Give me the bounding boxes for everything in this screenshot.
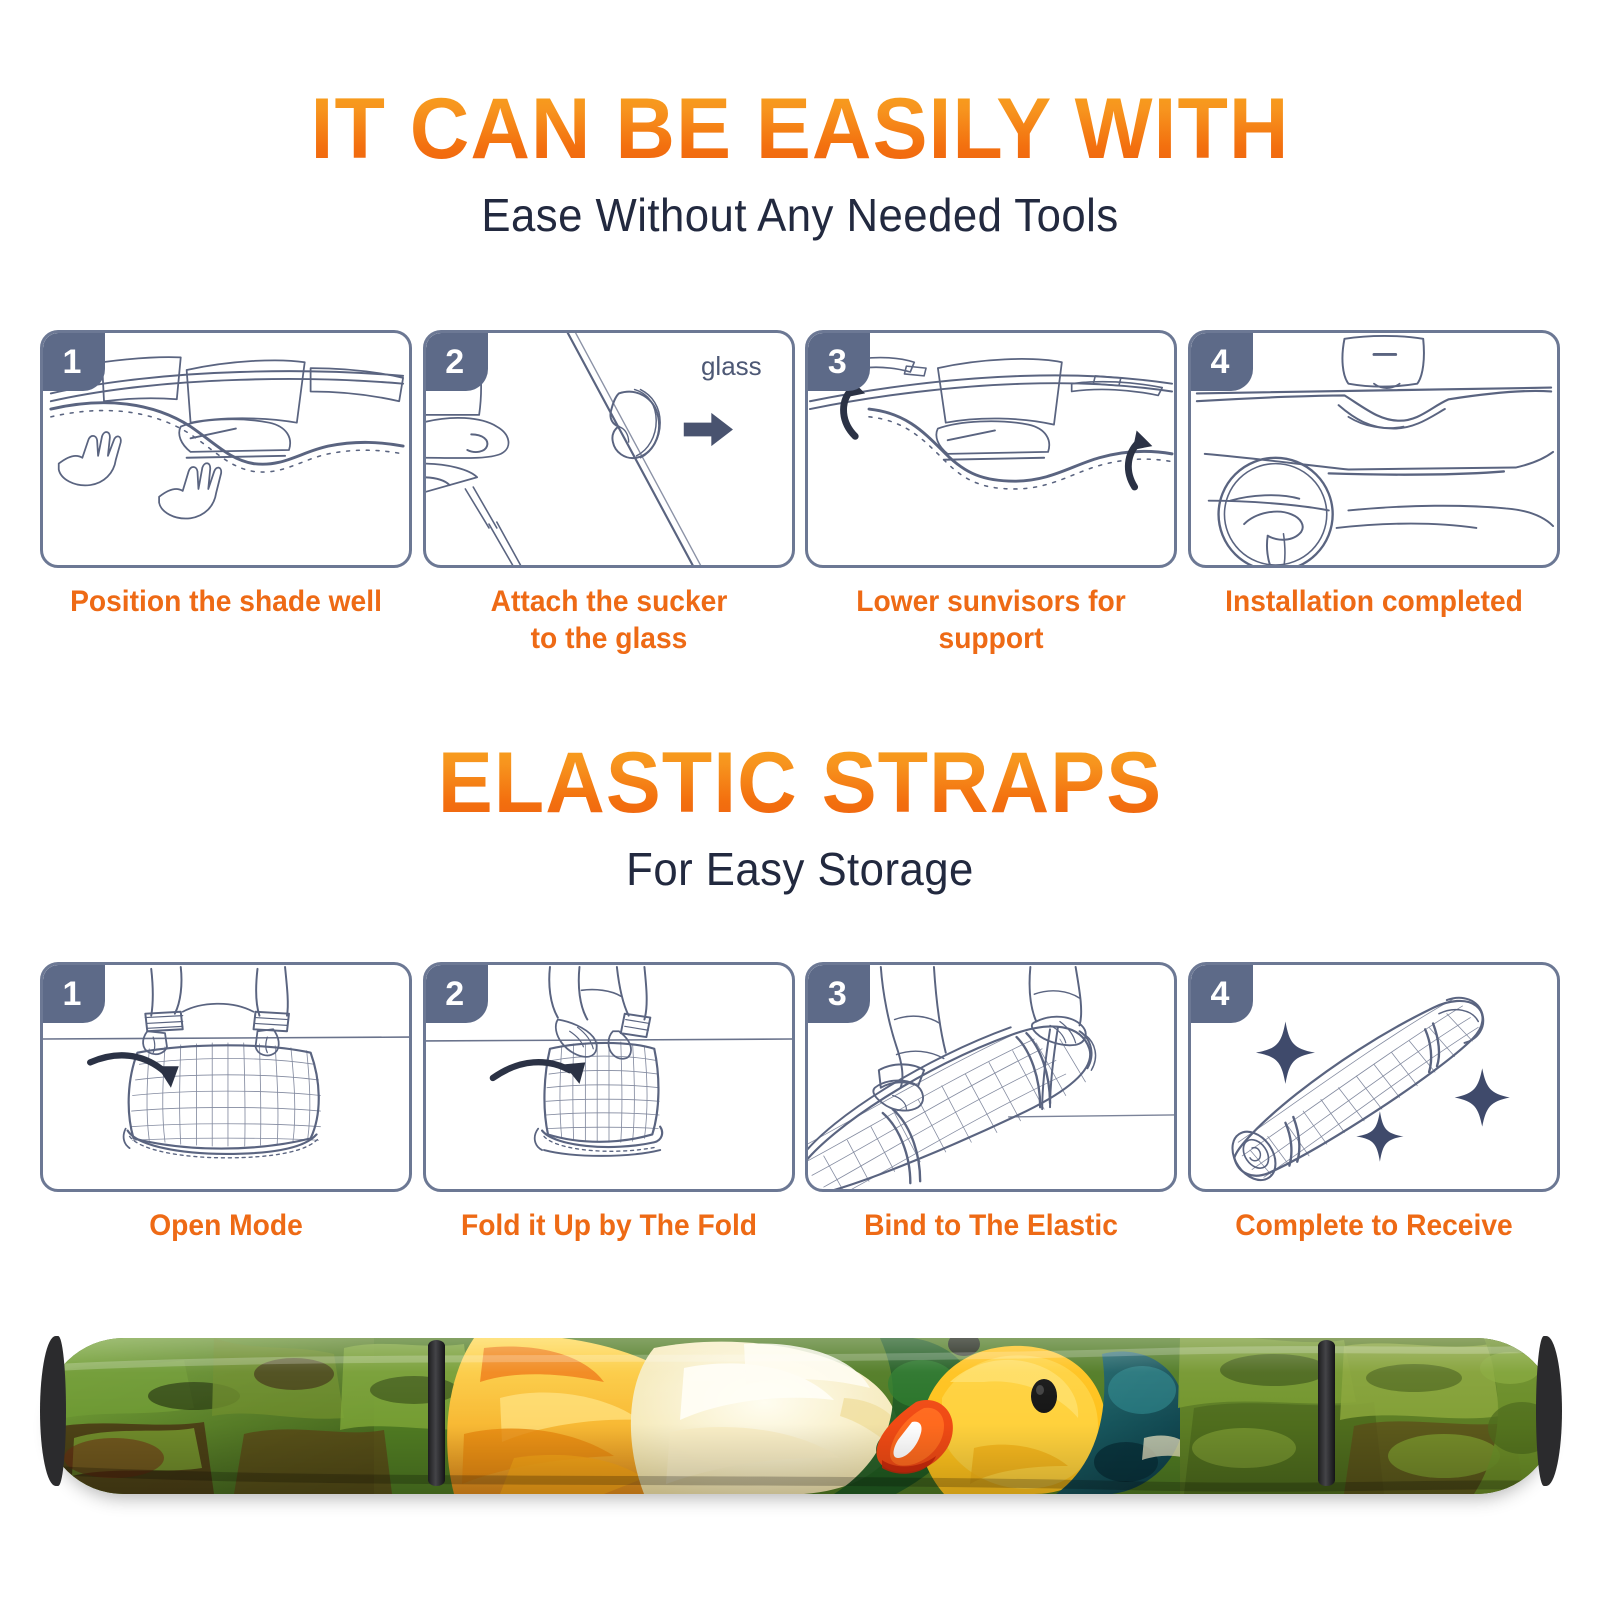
storage-card-2[interactable]: 2 [423, 962, 795, 1245]
storage-4-illustration-box: 4 [1188, 962, 1560, 1192]
storage-1-caption: Open Mode [43, 1208, 410, 1245]
storage-number-badge-1: 1 [43, 965, 105, 1023]
step-3-caption: Lower sunvisors for support [808, 584, 1175, 657]
storage-3-illustration-box: 3 [805, 962, 1177, 1192]
step-4-illustration-box: 4 [1188, 330, 1560, 568]
section-1-heading: IT CAN BE EASILY WITH Ease Without Any N… [0, 86, 1600, 242]
step-number-badge-3: 3 [808, 333, 870, 391]
elastic-strap-2 [1318, 1340, 1335, 1486]
storage-3-caption: Bind to The Elastic [808, 1208, 1175, 1245]
step-1-illustration-box: 1 [40, 330, 412, 568]
elastic-strap-1 [428, 1340, 445, 1486]
section-2-subtitle: For Easy Storage [40, 842, 1560, 896]
storage-number-badge-2: 2 [426, 965, 488, 1023]
storage-number-badge-3: 3 [808, 965, 870, 1023]
step-1-caption: Position the shade well [43, 584, 410, 621]
storage-1-illustration-box: 1 [40, 962, 412, 1192]
step-number-badge-4: 4 [1191, 333, 1253, 391]
roll-end-cap-right [1536, 1336, 1562, 1486]
storage-steps-row: 1 [0, 962, 1600, 1245]
step-4-caption: Installation completed [1191, 584, 1558, 621]
storage-4-caption: Complete to Receive [1191, 1208, 1558, 1245]
storage-2-illustration-box: 2 [423, 962, 795, 1192]
section-2-title: ELASTIC STRAPS [32, 740, 1568, 826]
section-1-subtitle: Ease Without Any Needed Tools [40, 188, 1560, 242]
step-number-badge-2: 2 [426, 333, 488, 391]
step-number-badge-1: 1 [43, 333, 105, 391]
step-2-illustration-box: 2 glass [423, 330, 795, 568]
product-photo [0, 1330, 1600, 1520]
storage-2-caption: Fold it Up by The Fold [425, 1208, 792, 1245]
roll-end-cap-left [40, 1336, 66, 1486]
step-card-3[interactable]: 3 [805, 330, 1177, 657]
storage-card-3[interactable]: 3 [805, 962, 1177, 1245]
step-card-1[interactable]: 1 Pos [40, 330, 412, 657]
install-steps-row: 1 Pos [0, 330, 1600, 657]
glass-annotation-label: glass [701, 351, 762, 382]
storage-card-4[interactable]: 4 [1188, 962, 1560, 1245]
step-3-illustration-box: 3 [805, 330, 1177, 568]
storage-card-1[interactable]: 1 [40, 962, 412, 1245]
section-2-heading: ELASTIC STRAPS For Easy Storage [0, 740, 1600, 896]
section-1-title: IT CAN BE EASILY WITH [32, 86, 1568, 172]
step-card-2[interactable]: 2 glass [423, 330, 795, 657]
step-2-caption: Attach the sucker to the glass [425, 584, 792, 657]
storage-number-badge-4: 4 [1191, 965, 1253, 1023]
step-card-4[interactable]: 4 [1188, 330, 1560, 657]
